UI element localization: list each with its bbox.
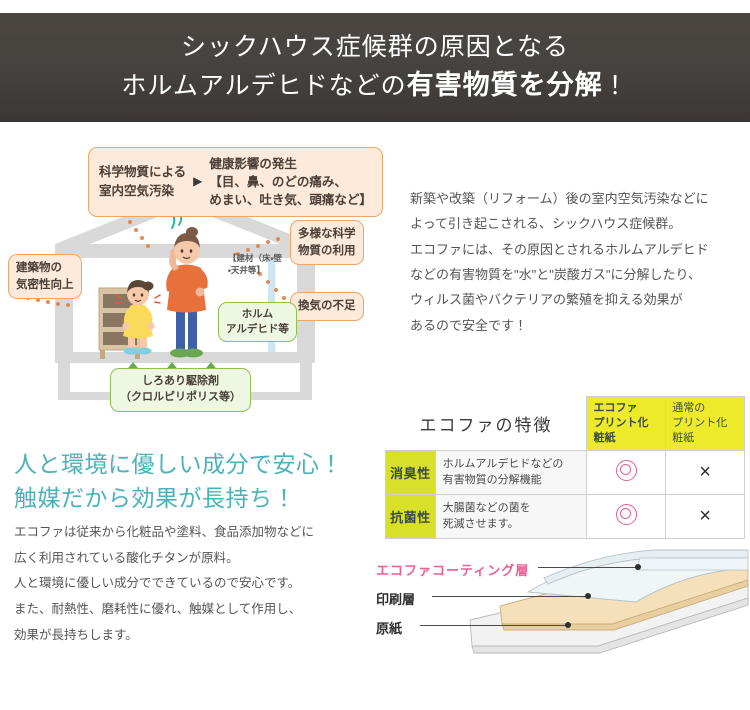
layer-diagram: エコファコーティング層 印刷層 原紙 (360, 528, 750, 668)
table-header-normal-line-1: 通常の (672, 402, 705, 414)
header-banner: シックハウス症候群の原因となる ホルムアルデヒドなどの有害物質を分解！ (0, 13, 750, 122)
greenbox-termite-repellent: しろあり駆除剤 （クロルピリポリス等） (110, 368, 251, 412)
intro-line-2: よって引き起こされる、シックハウス症候群。 (410, 211, 740, 236)
callout-chemical-pollution-left: 科学物質による 室内空気汚染 (99, 163, 186, 201)
arrow-icon: ▶ (193, 173, 202, 190)
table-header-normal: 通常の プリント化粧紙 (666, 397, 745, 451)
table-row: 消臭性 ホルムアルデヒドなどの 有害物質の分解機能 × (386, 450, 745, 494)
cross-icon: × (699, 461, 711, 483)
building-material-line-1: 【建材（床・壁 (228, 253, 282, 263)
callout-diverse-chemicals: 多様な科学 物質の利用 (290, 220, 364, 265)
building-material-line-2: ・天井等】 (228, 265, 265, 275)
greenbox-termite-line-1: しろあり駆除剤 (142, 375, 219, 387)
leader-line-print (432, 596, 588, 597)
leader-dot-print (585, 593, 591, 599)
lower-section-body: エコファは従来から化粧品や塗料、食品添加物などに 広く利用されている酸化チタンが… (14, 520, 374, 648)
lower-body-line-5: 効果が長持ちします。 (14, 623, 374, 649)
table-header-row: エコファの特徴 エコファ プリント化粧紙 通常の プリント化粧紙 (386, 397, 745, 451)
table-header-ecofa-line-2: プリント化粧紙 (593, 417, 648, 444)
lower-heading-line-1: 人と環境に優しい成分で安心！ (14, 447, 343, 481)
lower-body-line-4: また、耐熱性、磨耗性に優れ、触媒として作用し、 (14, 597, 374, 623)
greenbox-formaldehyde-line-2: アルデヒド等 (226, 323, 289, 335)
table-row-desc-deodorizing: ホルムアルデヒドなどの 有害物質の分解機能 (435, 450, 587, 494)
callout-chemical-pollution: 科学物質による 室内空気汚染 ▶ 健康影響の発生 【目、鼻、のどの痛み、 めまい… (88, 147, 383, 217)
intro-line-6: あるので安全です！ (410, 313, 740, 338)
table-cell-ecofa-deodorizing (587, 450, 666, 494)
greenbox-termite-line-2: （クロルピリポリス等） (120, 391, 241, 403)
intro-paragraph: 新築や改築（リフォーム）後の室内空気汚染などに よって引き起こされる、シックハウ… (410, 186, 740, 338)
house-diagram: 科学物質による 室内空気汚染 ▶ 健康影響の発生 【目、鼻、のどの痛み、 めまい… (0, 140, 390, 405)
banner-line-2-emphasis: 有害物質を分解 (407, 70, 603, 100)
callout-chemical-line-2: 室内空気汚染 (99, 184, 174, 198)
banner-line-2: ホルムアルデヒドなどの有害物質を分解！ (121, 68, 628, 103)
banner-line-2-normal-b: ！ (603, 72, 629, 100)
double-circle-icon (616, 460, 637, 481)
comparison-table-wrapper: エコファの特徴 エコファ プリント化粧紙 通常の プリント化粧紙 消臭性 ホルム… (385, 396, 745, 539)
double-circle-icon (616, 504, 637, 525)
callout-insufficient-ventilation: 換気の不足 (290, 292, 364, 321)
callout-chemical-line-1: 科学物質による (99, 165, 186, 179)
intro-line-4: などの有害物質を"水"と"炭酸ガス"に分解したり、 (410, 262, 740, 287)
callout-airtightness-line-1: 建築物の (16, 262, 62, 274)
callout-health-line-1: 健康影響の発生 (209, 157, 297, 171)
lower-body-line-1: エコファは従来から化粧品や塗料、食品添加物などに (14, 520, 374, 546)
table-cell-normal-deodorizing: × (666, 450, 745, 494)
layer-label-base-paper: 原紙 (376, 618, 402, 637)
lower-body-line-3: 人と環境に優しい成分でできているので安心です。 (14, 571, 374, 597)
lower-heading-line-2: 触媒だから効果が長持ち！ (14, 481, 343, 515)
table-title: エコファの特徴 (386, 397, 587, 451)
callout-health-line-3: めまい、吐き気、頭痛など】 (209, 193, 372, 207)
leader-dot-base-paper (565, 622, 571, 628)
banner-line-2-normal-a: ホルムアルデヒドなどの (121, 72, 406, 100)
table-row-desc-deodorizing-line-1: ホルムアルデヒドなどの (443, 458, 564, 470)
building-material-label: 【建材（床・壁 ・天井等】 (228, 253, 282, 277)
intro-line-1: 新築や改築（リフォーム）後の室内空気汚染などに (410, 186, 740, 211)
callout-airtightness: 建築物の 気密性向上 (8, 254, 82, 299)
greenbox-formaldehyde: ホルム アルデヒド等 (218, 302, 297, 342)
callout-diverse-chemicals-line-2: 物質の利用 (298, 245, 356, 257)
callout-diverse-chemicals-line-1: 多様な科学 (298, 228, 356, 240)
intro-line-3: エコファには、その原因とされるホルムアルデヒド (410, 237, 740, 262)
callout-airtightness-line-2: 気密性向上 (16, 279, 74, 291)
table-header-ecofa-line-1: エコファ (593, 402, 637, 414)
callout-health-effects: 健康影響の発生 【目、鼻、のどの痛み、 めまい、吐き気、頭痛など】 (209, 155, 372, 209)
layer-label-print: 印刷層 (376, 589, 415, 608)
table-row-label-deodorizing: 消臭性 (386, 450, 436, 494)
lower-body-line-2: 広く利用されている酸化チタンが原料。 (14, 546, 374, 572)
greenbox-formaldehyde-line-1: ホルム (242, 308, 273, 320)
leader-dot-coating (635, 564, 641, 570)
table-header-normal-line-2: プリント化粧紙 (672, 417, 727, 444)
lower-section-heading: 人と環境に優しい成分で安心！ 触媒だから効果が長持ち！ (14, 447, 343, 515)
intro-line-5: ウィルス菌やバクテリアの繁殖を抑える効果が (410, 287, 740, 312)
leader-line-coating (538, 567, 638, 568)
leader-line-base-paper (420, 625, 568, 626)
comparison-table: エコファの特徴 エコファ プリント化粧紙 通常の プリント化粧紙 消臭性 ホルム… (385, 396, 745, 539)
cross-icon: × (699, 505, 711, 527)
table-row-desc-antibacterial-line-1: 大腸菌などの菌を (443, 502, 531, 514)
callout-health-line-2: 【目、鼻、のどの痛み、 (209, 175, 347, 189)
table-header-ecofa: エコファ プリント化粧紙 (587, 397, 666, 451)
banner-line-1: シックハウス症候群の原因となる (181, 32, 569, 63)
layer-label-coating: エコファコーティング層 (376, 560, 529, 579)
table-row-desc-deodorizing-line-2: 有害物質の分解機能 (443, 474, 542, 486)
layer-illustration (360, 528, 750, 668)
